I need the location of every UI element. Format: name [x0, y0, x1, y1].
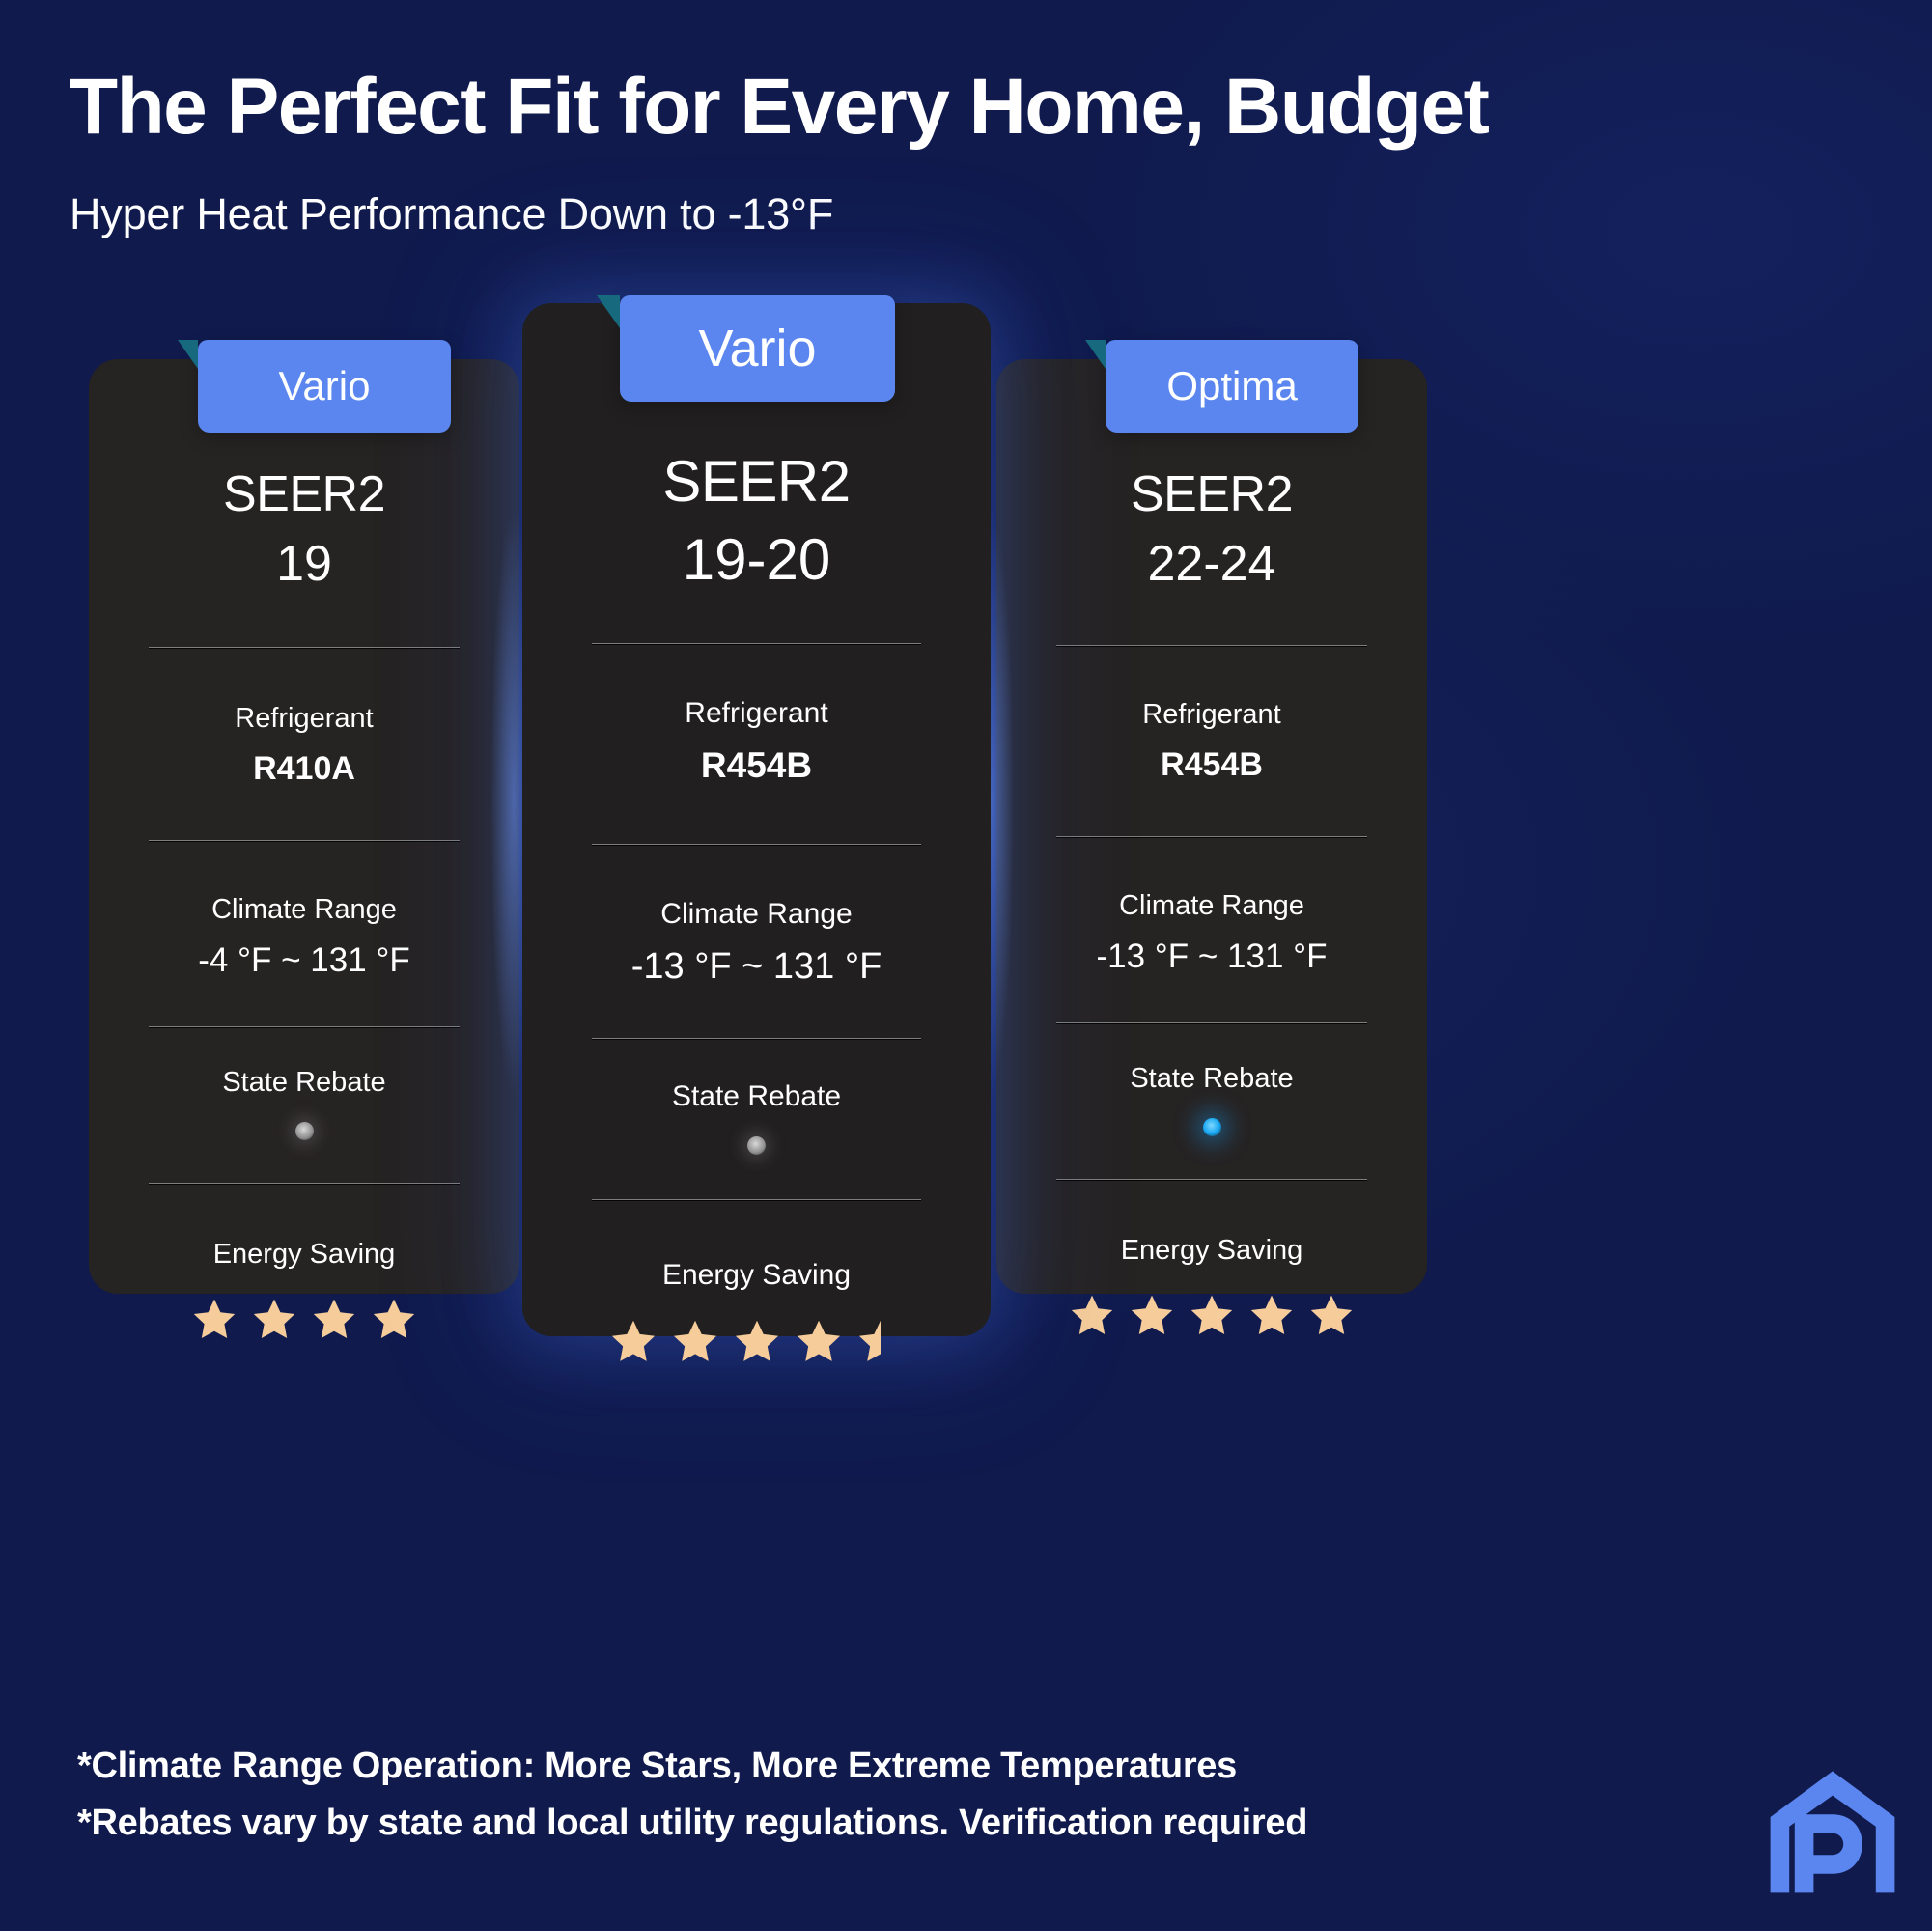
badge-label: Vario: [698, 320, 816, 378]
page-subtitle: Hyper Heat Performance Down to -13°F: [70, 189, 1865, 239]
divider: [592, 643, 921, 645]
seer-value: 22-24: [1148, 535, 1276, 593]
star-icon: [251, 1296, 297, 1342]
ribbon-fold-icon: [178, 340, 198, 369]
refrigerant-value: R454B: [1056, 746, 1367, 784]
star-icon: [795, 1317, 843, 1365]
climate-range-row: Climate Range -4 °F ~ 131 °F: [149, 894, 460, 980]
header: The Perfect Fit for Every Home, Budget H…: [70, 66, 1865, 239]
state-rebate-row: State Rebate: [1056, 1063, 1367, 1136]
energy-saving-stars: [1056, 1292, 1367, 1338]
climate-range-value: -13 °F ~ 131 °F: [1056, 938, 1367, 976]
refrigerant-label: Refrigerant: [149, 703, 460, 735]
star-icon: [191, 1296, 238, 1342]
state-rebate-row: State Rebate: [592, 1080, 921, 1155]
seer-label: SEER2: [1131, 465, 1293, 523]
state-rebate-label: State Rebate: [149, 1067, 460, 1099]
state-rebate-label: State Rebate: [592, 1080, 921, 1113]
product-card-vario-featured[interactable]: SEER2 19-20 Refrigerant R454B Climate Ra…: [522, 303, 991, 1336]
refrigerant-label: Refrigerant: [592, 697, 921, 730]
climate-range-label: Climate Range: [1056, 890, 1367, 922]
badge-optima[interactable]: Optima: [1106, 340, 1358, 433]
star-icon: [1189, 1292, 1235, 1338]
state-rebate-label: State Rebate: [1056, 1063, 1367, 1095]
star-icon: [609, 1317, 658, 1365]
divider: [1056, 1022, 1367, 1024]
product-card-vario-basic[interactable]: SEER2 19 Refrigerant R410A Climate Range…: [89, 359, 519, 1294]
star-icon: [311, 1296, 357, 1342]
star-icon: [733, 1317, 781, 1365]
energy-saving-stars: [592, 1317, 921, 1365]
ribbon-fold-icon: [1085, 340, 1106, 369]
footnote-rebates: *Rebates vary by state and local utility…: [77, 1795, 1622, 1852]
badge-label: Vario: [279, 363, 371, 408]
divider: [149, 647, 460, 649]
seer-label: SEER2: [223, 465, 385, 523]
divider: [1056, 1179, 1367, 1181]
ribbon-fold-icon: [597, 295, 620, 328]
climate-range-row: Climate Range -13 °F ~ 131 °F: [592, 898, 921, 988]
badge-vario-featured[interactable]: Vario: [620, 295, 895, 402]
badge-vario-basic[interactable]: Vario: [198, 340, 451, 433]
footnotes: *Climate Range Operation: More Stars, Mo…: [77, 1738, 1622, 1852]
energy-saving-row: Energy Saving: [592, 1259, 921, 1365]
refrigerant-label: Refrigerant: [1056, 699, 1367, 731]
seer-value: 19: [276, 535, 332, 593]
energy-saving-label: Energy Saving: [1056, 1235, 1367, 1267]
comparison-cards: SEER2 19 Refrigerant R410A Climate Range…: [0, 290, 1932, 1371]
star-icon: [371, 1296, 417, 1342]
star-icon: [1248, 1292, 1295, 1338]
seer-label: SEER2: [662, 448, 850, 515]
star-icon: [671, 1317, 719, 1365]
divider: [592, 1038, 921, 1040]
state-rebate-indicator-dot: [1203, 1118, 1221, 1136]
divider: [149, 840, 460, 842]
product-card-optima[interactable]: SEER2 22-24 Refrigerant R454B Climate Ra…: [996, 359, 1427, 1294]
climate-range-value: -4 °F ~ 131 °F: [149, 941, 460, 980]
divider: [592, 844, 921, 846]
energy-saving-label: Energy Saving: [149, 1239, 460, 1271]
refrigerant-row: Refrigerant R410A: [149, 703, 460, 788]
half-star-icon: [856, 1317, 905, 1365]
state-rebate-row: State Rebate: [149, 1067, 460, 1140]
star-icon: [1129, 1292, 1175, 1338]
climate-range-label: Climate Range: [592, 898, 921, 931]
climate-range-value: -13 °F ~ 131 °F: [592, 946, 921, 988]
seer-value: 19-20: [683, 526, 830, 593]
page-title: The Perfect Fit for Every Home, Budget: [70, 66, 1865, 149]
refrigerant-row: Refrigerant R454B: [1056, 699, 1367, 784]
state-rebate-indicator-dot: [747, 1136, 766, 1155]
divider: [149, 1183, 460, 1185]
energy-saving-row: Energy Saving: [1056, 1235, 1367, 1338]
energy-saving-row: Energy Saving: [149, 1239, 460, 1342]
divider: [149, 1026, 460, 1028]
badge-label: Optima: [1166, 363, 1297, 408]
house-g-logo-icon: [1765, 1763, 1900, 1898]
energy-saving-label: Energy Saving: [592, 1259, 921, 1292]
star-icon: [1308, 1292, 1355, 1338]
divider: [1056, 645, 1367, 647]
energy-saving-stars: [149, 1296, 460, 1342]
refrigerant-value: R454B: [592, 745, 921, 786]
climate-range-label: Climate Range: [149, 894, 460, 926]
refrigerant-value: R410A: [149, 750, 460, 788]
star-icon: [1069, 1292, 1115, 1338]
divider: [592, 1199, 921, 1201]
footnote-climate-range: *Climate Range Operation: More Stars, Mo…: [77, 1738, 1622, 1795]
refrigerant-row: Refrigerant R454B: [592, 697, 921, 786]
divider: [1056, 836, 1367, 838]
state-rebate-indicator-dot: [295, 1122, 314, 1140]
climate-range-row: Climate Range -13 °F ~ 131 °F: [1056, 890, 1367, 976]
